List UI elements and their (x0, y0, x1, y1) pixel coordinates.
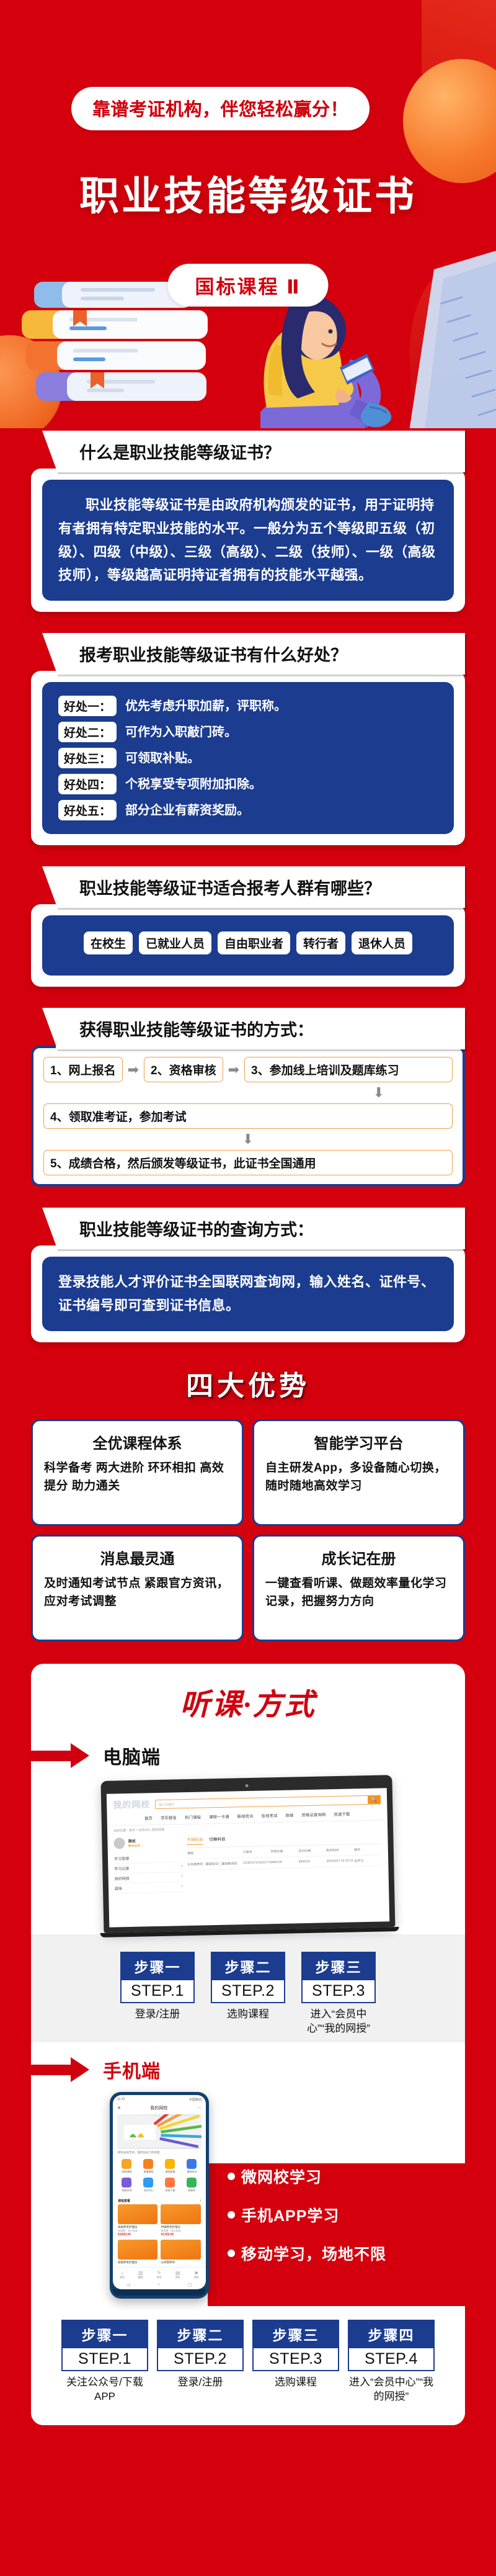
mobile-step-en: STEP.4 (348, 2348, 435, 2371)
advantages-grid: 全优课程体系 科学备考 两大进阶 环环相扣 高效提分 助力通关 智能学习平台 自… (31, 1419, 465, 1641)
member-main: 不限科目 切换科目 课程 订单号 市场价格 支付价格 购买时间 操作 (187, 1832, 383, 1892)
bullet-dot-icon (228, 2250, 235, 2257)
webcam-icon (245, 1784, 248, 1787)
mobile-label: 手机端 (103, 2056, 161, 2083)
phone-status-bar: 11:24 中国移动 (113, 2095, 206, 2103)
bottom-spacer (0, 2425, 496, 2487)
go-study-link[interactable]: 去学习 (354, 1858, 382, 1863)
course-card[interactable]: 初级养老护理员 (118, 2240, 158, 2264)
section-audience-heading: 职业技能等级证书适合报考人群有哪些？ (56, 866, 465, 908)
mobile-step-cn: 步骤一 (61, 2320, 148, 2348)
advantage-title: 全优课程体系 (44, 1431, 231, 1453)
pc-step-en: STEP.1 (120, 1980, 195, 2003)
app-icon-teachers[interactable]: 网校名师 (117, 2178, 137, 2192)
mobile-step-caption: 登录/注册 (157, 2376, 244, 2390)
app-icon-education-center[interactable]: 学历中心 (138, 2178, 159, 2192)
pc-label: 电脑端 (103, 1742, 161, 1769)
mobile-step-caption: 进入“会员中心”“我的网授” (348, 2376, 435, 2404)
course-card[interactable]: 公共营养师 (161, 2240, 201, 2264)
flow-connector-2: ⬇ (43, 1133, 453, 1146)
advantage-title: 智能学习平台 (265, 1431, 452, 1453)
tab-home[interactable]: ⌂首页 (120, 2270, 125, 2279)
phone-chin (113, 2289, 206, 2296)
pc-step-caption: 进入“会员中心”“我的网授” (301, 2008, 376, 2036)
mobile-step-en: STEP.2 (157, 2348, 244, 2371)
app-title: 我的网校 (150, 2105, 167, 2111)
app-icon-mock-exam[interactable]: 模拟考试 (182, 2159, 202, 2174)
audience-tag-list: 在校生 已就业人员 自由职业者 转行者 退休人员 (55, 931, 441, 954)
bullet-dot-icon (228, 2211, 235, 2219)
laptop-mockup: 我的网校 输入关键字 🔍 首页 学历报名 热门课程 课程一卡通 新闻资讯 (100, 1775, 395, 1937)
pc-step-cn: 步骤一 (120, 1952, 195, 1980)
close-icon[interactable]: ✕ (117, 2106, 121, 2111)
audience-tag: 转行者 (296, 931, 345, 954)
mobile-label-row: 手机端 (31, 2056, 465, 2083)
pc-step-caption: 登录/注册 (120, 2008, 195, 2022)
mobile-step-en: STEP.1 (61, 2348, 148, 2371)
chevron-right-icon[interactable]: › (200, 2199, 201, 2203)
tab-switch-subject[interactable]: 切换科目 (209, 1836, 225, 1845)
benefit-text: 优先考虑升职加薪，评职称。 (125, 696, 286, 716)
nav-item[interactable]: 资格证查询网 (301, 1811, 325, 1818)
section-what-is-heading: 什么是职业技能等级证书？ (56, 431, 465, 472)
nav-item[interactable]: 首页 (144, 1815, 153, 1821)
status-time: 11:24 (117, 2098, 125, 2102)
section-benefits: 报考职业技能等级证书有什么好处？ 好处一： 优先考虑升职加薪，评职称。 好处二：… (31, 633, 465, 845)
laptop-screen: 我的网校 输入关键字 🔍 首页 学历报名 热门课程 课程一卡通 新闻资讯 (107, 1788, 389, 1927)
what-is-paragraph: 职业技能等级证书是由政府机构颁发的证书，用于证明持有者拥有特定职业技能的水平。一… (58, 493, 438, 587)
flow-row-top: 1、网上报名 ➡ 2、资格审核 ➡ 3、参加线上培训及题库练习 (43, 1057, 453, 1082)
hero-main-title: 职业技能等级证书 (0, 164, 496, 222)
mobile-step-cn: 步骤四 (348, 2320, 435, 2348)
section-benefits-heading: 报考职业技能等级证书有什么好处？ (56, 633, 465, 675)
mobile-mockup-block: 11:24 中国移动 ✕ 我的网校 ··· (31, 2092, 465, 2302)
tab-library[interactable]: ▥题库 (138, 2270, 143, 2279)
user-info: 测试 黄金会员 (113, 1836, 182, 1849)
section-query: 职业技能等级证书的查询方式： 登录技能人才评价证书全国联网查询网，输入姓名、证件… (31, 1208, 465, 1342)
benefit-text: 个税享受专项附加扣除。 (125, 774, 262, 794)
advantage-desc: 自主研发App，多设备随心切换，随时随地高效学习 (265, 1459, 452, 1496)
benefit-tag: 好处五： (58, 800, 117, 820)
status-carrier: 中国移动 (189, 2098, 201, 2102)
section-audience: 职业技能等级证书适合报考人群有哪些？ 在校生 已就业人员 自由职业者 转行者 退… (31, 866, 465, 987)
app-icon-grid[interactable]: 网授课程 直播课程 课程套餐 模拟考试 网校名师 学历中心 资源下载 购物车 (113, 2156, 206, 2196)
benefit-text: 部分企业有薪资奖励。 (125, 800, 249, 820)
phone-tabbar[interactable]: ⌂首页 ▥题库 ✎考试 ▤资讯 ☻我的 (113, 2267, 206, 2281)
mobile-bullet: 手机APP学习 (228, 2204, 386, 2226)
site-search[interactable]: 输入关键字 🔍 (155, 1795, 381, 1809)
promo-banner[interactable] (117, 2114, 201, 2149)
benefit-tag: 好处四： (58, 774, 117, 794)
hero-tagline-text: 靠谱考证机构，伴您轻松赢分！ (92, 100, 348, 120)
nav-item[interactable]: 新闻资讯 (237, 1813, 253, 1820)
course-card[interactable]: 高级养老护理员 有效期：永久有效 ¥1000.00 (118, 2204, 158, 2237)
what-is-card: 职业技能等级证书是由政府机构颁发的证书，用于证明持有者拥有特定职业技能的水平。一… (42, 480, 454, 601)
phone-screen: 11:24 中国移动 ✕ 我的网校 ··· (113, 2095, 206, 2289)
app-icon-live-course[interactable]: 直播课程 (138, 2159, 159, 2174)
section-how-to-get: 获得职业技能等级证书的方式： 1、网上报名 ➡ 2、资格审核 ➡ 3、参加线上培… (31, 1008, 465, 1187)
recents-icon[interactable]: ▢ (188, 2282, 192, 2287)
flow-step-4: 4、领取准考证，参加考试 (43, 1103, 453, 1129)
tab-news[interactable]: ▤资讯 (175, 2270, 180, 2279)
audience-tag: 退休人员 (352, 931, 412, 954)
section-query-body: 登录技能人才评价证书全国联网查询网，输入姓名、证件号、证书编号即可查到证书信息。 (31, 1245, 465, 1342)
mobile-step: 步骤四 STEP.4 进入“会员中心”“我的网授” (348, 2320, 435, 2404)
course-card-grid[interactable]: 高级养老护理员 有效期：永久有效 ¥1000.00 中级养老护理员 有效期：永久… (113, 2204, 206, 2267)
mobile-step-en: STEP.3 (252, 2348, 339, 2371)
nav-item[interactable]: 资源下载 (334, 1811, 350, 1818)
advantage-title: 成长记在册 (265, 1546, 452, 1568)
audience-tag: 在校生 (84, 931, 133, 954)
membership-badge: 黄金会员 (128, 1844, 141, 1848)
search-icon[interactable]: 🔍 (368, 1795, 380, 1803)
nav-item[interactable]: 学历报名 (161, 1814, 177, 1821)
search-input[interactable]: 输入关键字 (156, 1795, 368, 1808)
query-card: 登录技能人才评价证书全国联网查询网，输入姓名、证件号、证书编号即可查到证书信息。 (42, 1257, 454, 1331)
hero-tagline-pill: 靠谱考证机构，伴您轻松赢分！ (71, 87, 370, 130)
app-icon-cart[interactable]: 购物车 (182, 2178, 202, 2192)
laptop-mockup-wrap: 我的网校 输入关键字 🔍 首页 学历报名 热门课程 课程一卡通 新闻资讯 (31, 1778, 465, 1934)
app-icon-downloads[interactable]: 资源下载 (160, 2178, 180, 2192)
mobile-bullet: 移动学习，场地不限 (228, 2242, 386, 2264)
arrow-right-icon: ➡ (128, 1063, 139, 1077)
app-icon-course-package[interactable]: 课程套餐 (160, 2159, 180, 2174)
advantage-desc: 一键查看听课、做题效率量化学习记录，把握努力方向 (265, 1574, 452, 1611)
hero-banner: 靠谱考证机构，伴您轻松赢分！ 职业技能等级证书 国标课程 Ⅱ (0, 0, 496, 428)
arrow-right-icon (31, 2059, 99, 2080)
section-benefits-body: 好处一： 优先考虑升职加薪，评职称。 好处二： 可作为入职敲门砖。 好处三： 可… (31, 671, 465, 845)
section-how-to-get-heading: 获得职业技能等级证书的方式： (56, 1008, 465, 1049)
benefit-item: 好处二： 可作为入职敲门砖。 (58, 722, 438, 742)
app-icon-online-course[interactable]: 网授课程 (117, 2159, 137, 2174)
audience-tag: 已就业人员 (139, 931, 211, 954)
tab-exam[interactable]: ✎考试 (157, 2270, 162, 2279)
sidebar-item-question-bank[interactable]: 题库› (115, 1882, 183, 1893)
query-paragraph: 登录技能人才评价证书全国联网查询网，输入姓名、证件号、证书编号即可查到证书信息。 (58, 1270, 438, 1317)
benefit-tag: 好处一： (58, 696, 117, 716)
mobile-step-cn: 步骤三 (252, 2320, 339, 2348)
mobile-step-caption: 选购课程 (252, 2376, 339, 2390)
advantage-card: 成长记在册 一键查看听课、做题效率量化学习记录，把握努力方向 (252, 1535, 465, 1641)
pc-label-row: 电脑端 (31, 1742, 465, 1769)
advantage-desc: 及时通知考试节点 紧跟官方资讯，应对考试调整 (44, 1574, 231, 1611)
advantage-title: 消息最灵通 (44, 1546, 231, 1568)
site-logo: 我的网校 (113, 1798, 150, 1811)
mobile-step: 步骤三 STEP.3 选购课程 (252, 2320, 339, 2404)
pc-step-caption: 选购课程 (211, 2008, 285, 2022)
android-nav-bar[interactable]: ◁ ○ ▢ (113, 2281, 206, 2289)
bullet-dot-icon (228, 2173, 235, 2180)
listen-methods-title: 听课·方式 (31, 1680, 465, 1723)
mobile-bullet-list: 微网校学习 手机APP学习 移动学习，场地不限 (228, 2092, 386, 2281)
benefit-text: 可作为入职敲门砖。 (125, 722, 237, 742)
pc-step-cn: 步骤三 (301, 1952, 376, 1980)
flow-step-1: 1、网上报名 (43, 1057, 123, 1082)
benefit-tag: 好处二： (58, 722, 117, 742)
home-icon[interactable]: ○ (157, 2282, 160, 2287)
hero-badge-text: 国标课程 Ⅱ (195, 276, 301, 298)
back-icon[interactable]: ◁ (126, 2282, 130, 2287)
mobile-steps: 步骤一 STEP.1 关注公众号/下载APP 步骤二 STEP.2 登录/注册 … (31, 2302, 465, 2425)
arrow-down-icon: ⬇ (242, 1133, 254, 1146)
more-icon[interactable]: ··· (197, 2106, 201, 2110)
section-what-is: 什么是职业技能等级证书？ 职业技能等级证书是由政府机构颁发的证书，用于证明持有者… (31, 428, 465, 612)
arrow-right-icon (31, 1745, 99, 1766)
benefit-item: 好处五： 部分企业有薪资奖励。 (58, 800, 438, 820)
nav-item[interactable]: 在线考试 (261, 1812, 277, 1819)
pc-step: 步骤三 STEP.3 进入“会员中心”“我的网授” (301, 1952, 376, 2036)
mobile-bullet: 微网校学习 (228, 2165, 386, 2188)
flow-step-5: 5、成绩合格，然后颁发等级证书，此证书全国通用 (43, 1150, 453, 1175)
advantage-desc: 科学备考 两大进阶 环环相扣 高效提分 助力通关 (44, 1459, 231, 1496)
pc-step-cn: 步骤二 (211, 1952, 285, 1980)
course-card[interactable]: 中级养老护理员 有效期：永久有效 ¥1300.00 (161, 2204, 201, 2237)
mobile-step: 步骤一 STEP.1 关注公众号/下载APP (61, 2320, 148, 2404)
pc-step-en: STEP.2 (211, 1980, 285, 2003)
tab-all-subjects[interactable]: 不限科目 (187, 1836, 203, 1845)
arrow-right-icon: ➡ (228, 1063, 239, 1077)
section-what-is-body: 职业技能等级证书是由政府机构颁发的证书，用于证明持有者拥有特定职业技能的水平。一… (31, 469, 465, 612)
flow-step-3: 3、参加线上培训及题库练习 (244, 1057, 453, 1082)
nav-item[interactable]: 商城 (285, 1811, 293, 1818)
section-header-course-package: 课程套餐 › (113, 2196, 206, 2204)
banner-caption: 把时光的艺术，留在指尖下的风景 (113, 2149, 206, 2156)
flow-step-2: 2、资格审核 (144, 1057, 223, 1082)
mobile-step: 步骤二 STEP.2 登录/注册 (157, 2320, 244, 2404)
tab-profile[interactable]: ☻我的 (194, 2270, 199, 2279)
section-query-heading: 职业技能等级证书的查询方式： (56, 1208, 465, 1249)
pc-step-en: STEP.3 (301, 1980, 376, 2003)
advantage-card: 智能学习平台 自主研发App，多设备随心切换，随时随地高效学习 (252, 1419, 465, 1526)
pc-step: 步骤一 STEP.1 登录/注册 (120, 1952, 195, 2036)
hero-badge-pill: 国标课程 Ⅱ (167, 264, 328, 307)
poster-page: 靠谱考证机构，伴您轻松赢分！ 职业技能等级证书 国标课程 Ⅱ (0, 0, 496, 2576)
listen-methods-panel: 听课·方式 电脑端 我的网校 输入关键字 🔍 (31, 1664, 465, 2425)
audience-card: 在校生 已就业人员 自由职业者 转行者 退休人员 (42, 915, 454, 976)
pencils-illustration (117, 2114, 201, 2149)
benefit-item: 好处三： 可领取补贴。 (58, 748, 438, 768)
benefit-item: 好处一： 优先考虑升职加薪，评职称。 (58, 696, 438, 716)
pc-step: 步骤二 STEP.2 选购课程 (211, 1952, 285, 2036)
phone-mockup: 11:24 中国移动 ✕ 我的网校 ··· (110, 2092, 209, 2299)
avatar (113, 1838, 125, 1849)
arrow-down-icon: ⬇ (373, 1086, 384, 1100)
benefits-card: 好处一： 优先考虑升职加薪，评职称。 好处二： 可作为入职敲门砖。 好处三： 可… (42, 682, 454, 834)
benefit-text: 可领取补贴。 (125, 748, 200, 768)
pc-steps: 步骤一 STEP.1 登录/注册 步骤二 STEP.2 选购课程 步骤三 STE… (31, 1934, 465, 2042)
section-audience-body: 在校生 已就业人员 自由职业者 转行者 退休人员 (31, 904, 465, 987)
user-name: 测试 (128, 1838, 140, 1844)
member-sidebar: 测试 黄金会员 学习管理 学习记录› (113, 1836, 183, 1893)
mobile-step-cn: 步骤二 (157, 2320, 244, 2348)
nav-item[interactable]: 课程一卡通 (209, 1813, 229, 1820)
benefit-tag: 好处三： (58, 748, 117, 768)
nav-item[interactable]: 热门课程 (185, 1814, 201, 1821)
how-to-get-flow: 1、网上报名 ➡ 2、资格审核 ➡ 3、参加线上培训及题库练习 ⬇ 4、领取准考… (31, 1046, 465, 1187)
audience-tag: 自由职业者 (218, 931, 290, 954)
flow-connector-1: ⬇ (43, 1086, 453, 1100)
mobile-step-caption: 关注公众号/下载APP (61, 2376, 148, 2404)
advantages-title: 四大优势 (0, 1363, 496, 1403)
advantage-card: 全优课程体系 科学备考 两大进阶 环环相扣 高效提分 助力通关 (31, 1419, 244, 1526)
advantage-card: 消息最灵通 及时通知考试节点 紧跟官方资讯，应对考试调整 (31, 1535, 244, 1641)
site-body: 测试 黄金会员 学习管理 学习记录› (107, 1829, 389, 1896)
phone-title-bar: ✕ 我的网校 ··· (113, 2103, 206, 2114)
sidebar-menu[interactable]: 学习管理 学习记录› 我的网授› 题库› (114, 1852, 183, 1893)
benefit-item: 好处四： 个税享受专项附加扣除。 (58, 774, 438, 794)
